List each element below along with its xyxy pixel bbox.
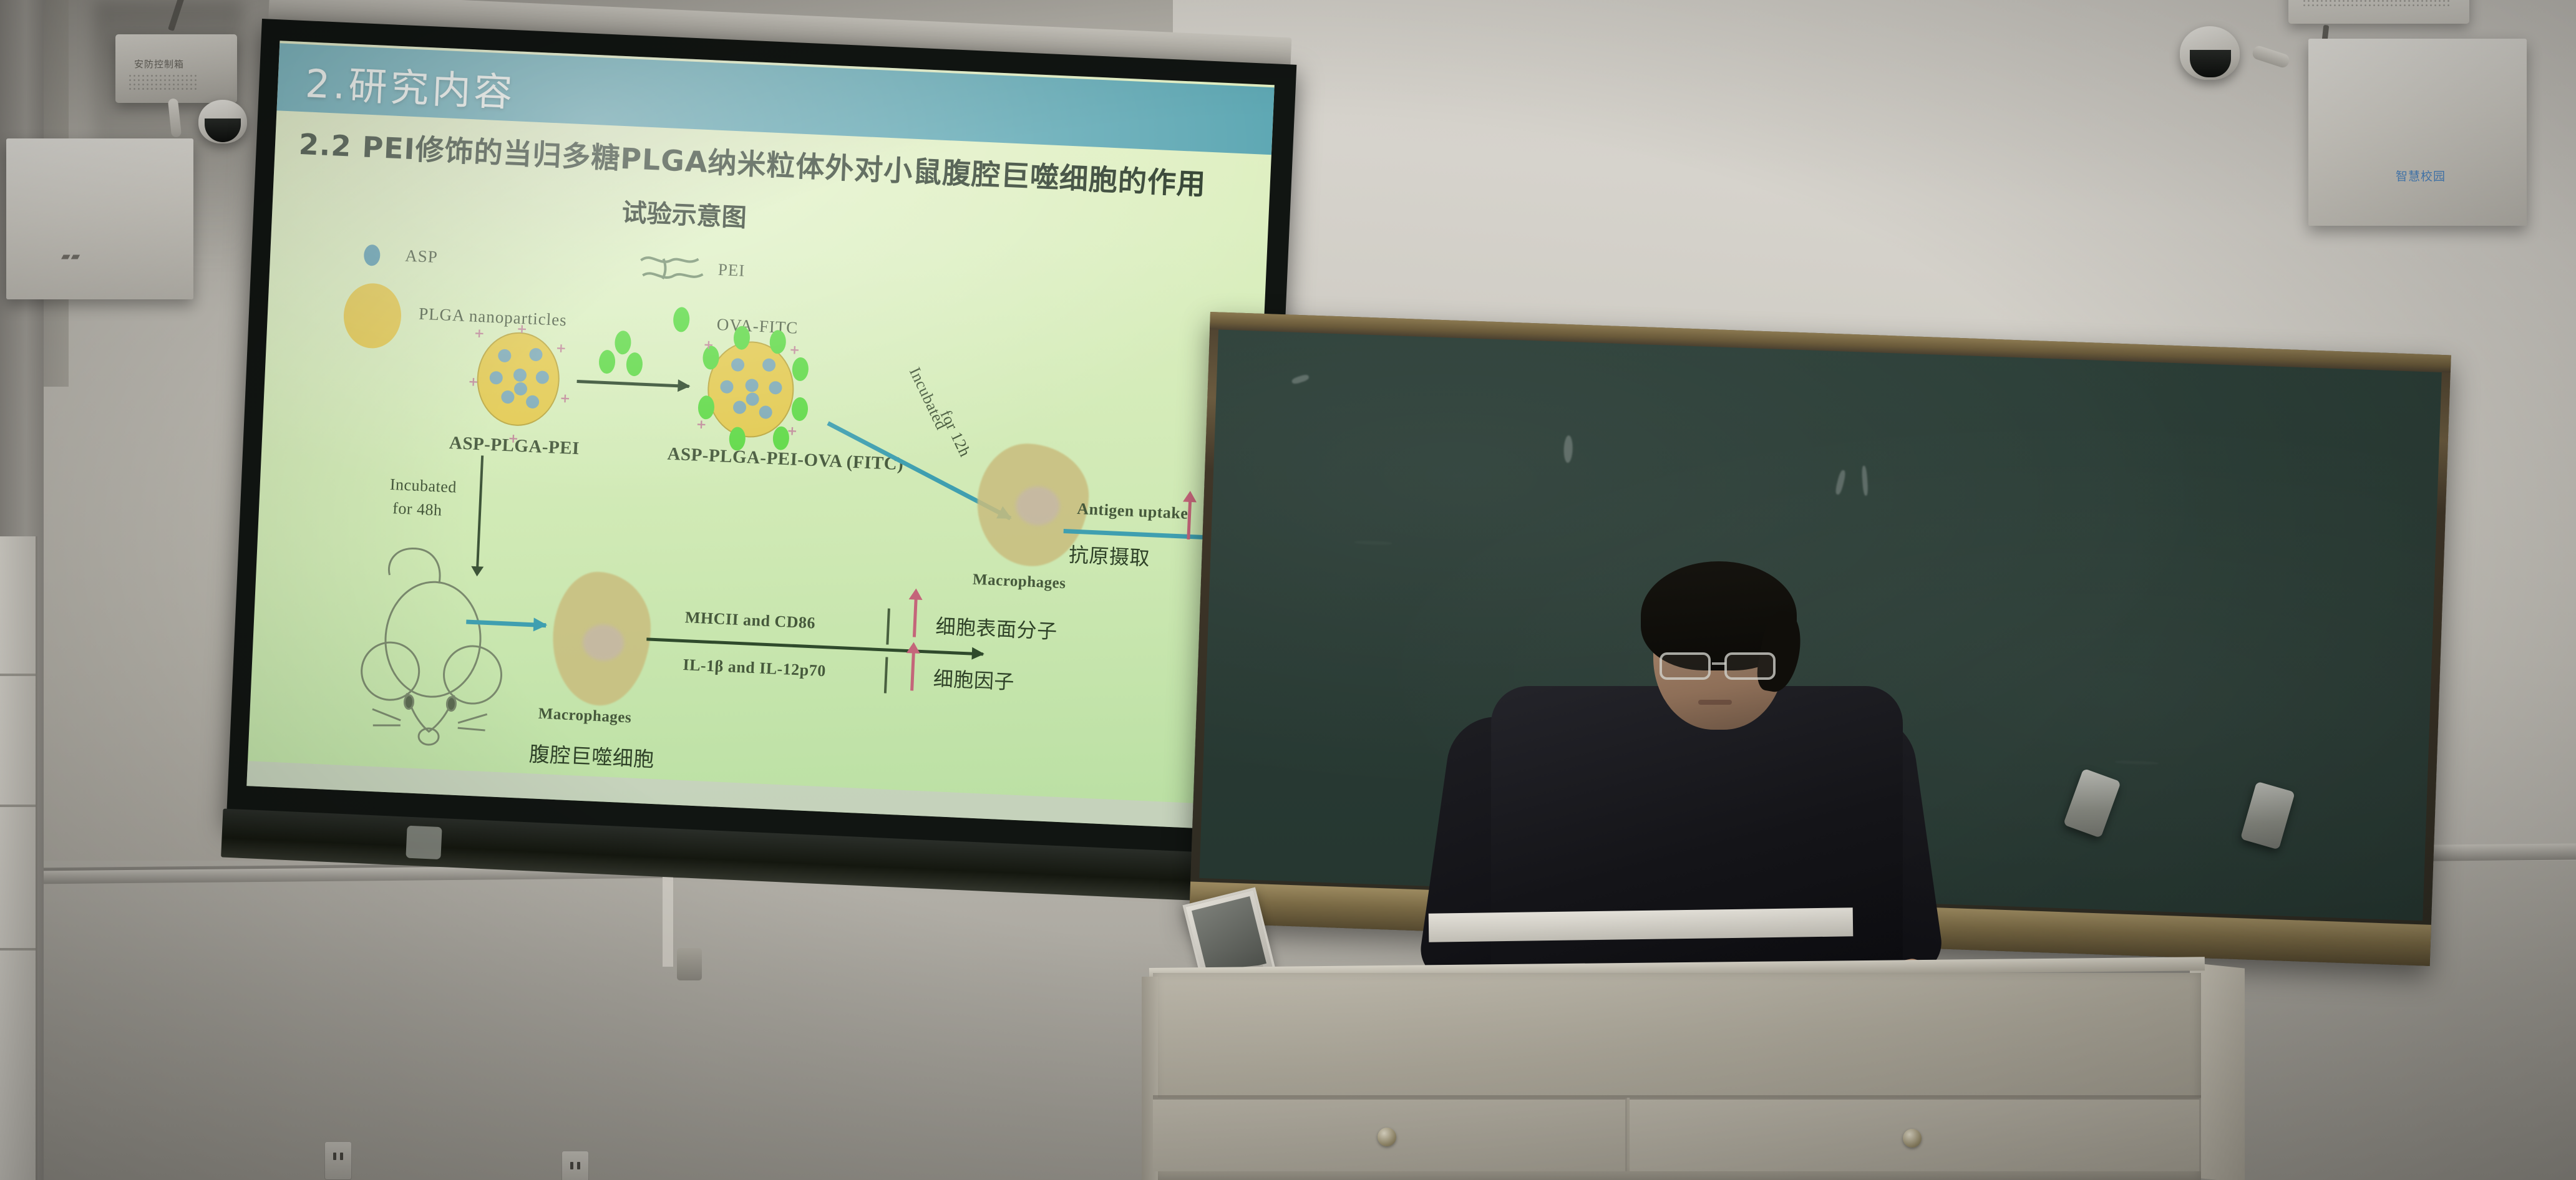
eyeglasses-bridge [1712,662,1726,665]
particle-left-caption: ASP-PLGA-PEI [449,433,580,459]
antigen-uptake-label-en: Antigen uptake [1077,500,1188,523]
lectern-drawer-1-knob[interactable] [1378,1128,1396,1146]
left-panel-line-3 [0,948,36,950]
legend-marker-asp [364,244,381,266]
legend-marker-pei [637,250,714,297]
slide-header-title: 2.研究内容 [304,52,517,117]
left-wall-panel [0,536,37,1180]
control-box-label: 安防控制箱 [134,57,184,70]
wall-outlet-2[interactable] [561,1151,589,1180]
eyeglasses-right-lens [1724,652,1776,680]
cytokine-tick [884,657,888,693]
wall-speaker [6,138,193,299]
antigen-uptake-arrow [1064,529,1226,541]
macrophage-left-label: Macrophages [538,705,632,727]
control-box-vents [128,74,197,92]
eyeglasses-left-lens [1660,652,1711,680]
wall-network-box [2308,39,2527,226]
projection-screen: 2.研究内容 2.2 PEI修饰的当归多糖PLGA纳米粒体外对小鼠腹腔巨噬细胞的… [226,19,1297,869]
presentation-slide: 2.研究内容 2.2 PEI修饰的当归多糖PLGA纳米粒体外对小鼠腹腔巨噬细胞的… [246,41,1275,830]
speaker-brand-mark: ▰▰ [61,249,80,263]
cytokine-up-arrow [910,652,915,690]
legend-marker-ova [673,307,690,332]
readout-arrow [646,637,983,655]
grille-vents [2302,0,2452,9]
left-panel-line-1 [0,674,36,676]
lectern-back-shelf [1429,907,1854,942]
incubate-48h-line1: Incubated [389,475,457,497]
reaction-arrow [577,380,689,388]
mouse-label-cn: 腹腔巨噬细胞 [528,737,655,773]
classroom-scene: 安防控制箱 ▰▰ 智慧校园 2.研究内容 2.2 PEI修饰的当归多糖PLGA纳… [0,0,2576,1180]
incubate-48h-line2: for 48h [392,499,443,520]
surface-marker-label-cn: 细胞表面分子 [935,611,1058,645]
surface-marker-tick [886,609,890,645]
slide-legend: ASP PEI PLGA nanoparticles OVA-FITC [360,238,1026,380]
macrophage-right-label: Macrophages [972,571,1066,593]
presenter-mouth [1698,700,1732,705]
legend-marker-plga [343,282,403,349]
incubate-12h-line2: for 12h [936,407,975,460]
particle-right-caption: ASP-PLGA-PEI-OVA (FITC) [667,444,904,475]
ova-blob-b [598,350,616,374]
cytokine-label-en: IL-1β and IL-12p70 [683,655,826,680]
legend-label-ova: OVA-FITC [716,315,799,338]
legend-label-asp: ASP [405,246,439,267]
legend-label-plga: PLGA nanoparticles [419,304,568,331]
lectern-drawer-2-knob[interactable] [1903,1129,1922,1148]
wall-box-brand: 智慧校园 [2396,167,2446,184]
left-panel-line-2 [0,805,36,807]
ova-blob-c [626,352,643,377]
lectern [1142,941,2265,1180]
cytokine-label-cn: 细胞因子 [933,663,1015,695]
antigen-uptake-label-cn: 抗原摄取 [1068,539,1150,571]
surface-marker-label-en: MHCII and CD86 [684,608,815,632]
screen-pull-tab[interactable] [406,826,442,859]
wall-hook [677,948,702,980]
surface-marker-up-arrow [913,598,918,637]
mouse-illustration [329,536,538,751]
slide-figure-title: 试验示意图 [621,192,747,234]
wall-hook-strip [663,873,673,967]
legend-label-pei: PEI [717,260,746,281]
wall-outlet-1[interactable] [324,1141,352,1180]
